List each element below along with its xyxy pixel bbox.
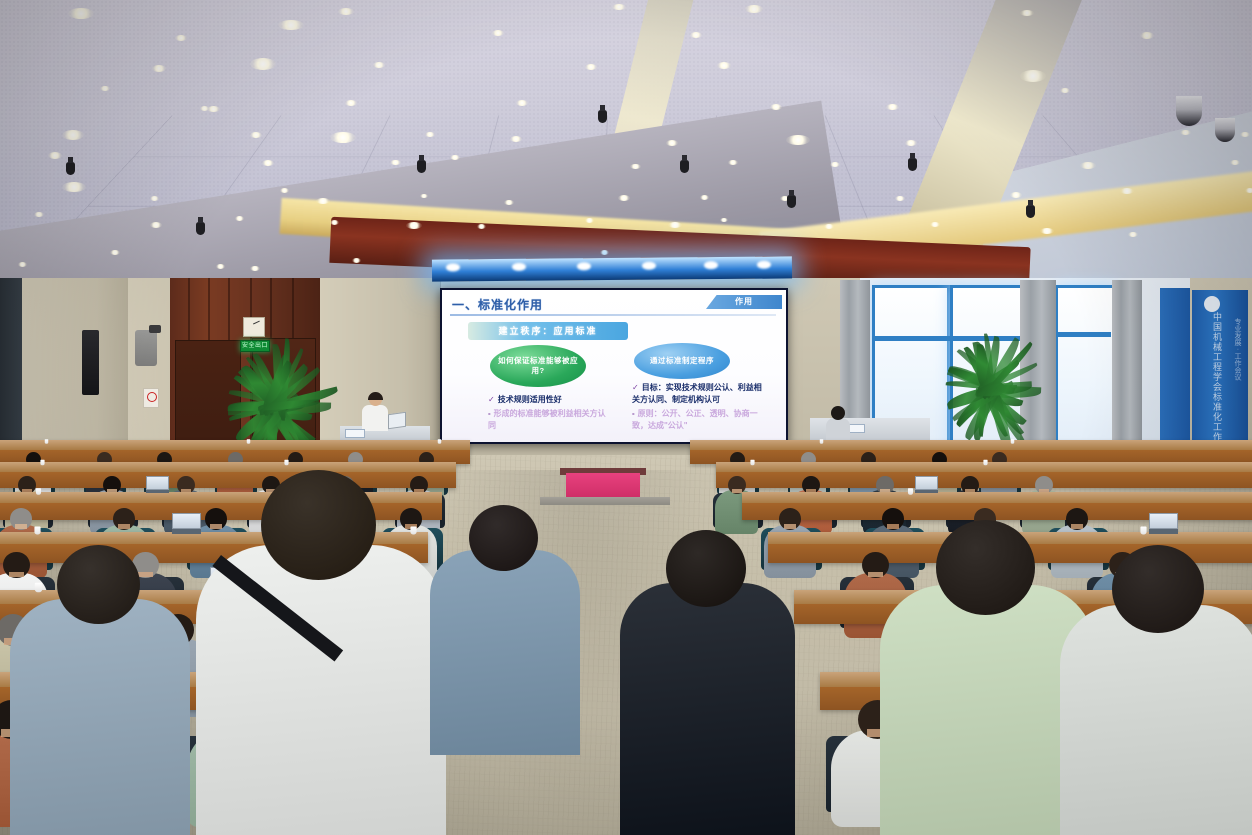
attendee-torso xyxy=(430,550,580,755)
ceiling-downlight xyxy=(1040,228,1054,234)
ceiling-downlight xyxy=(1010,192,1022,198)
ceiling-downlight xyxy=(1240,132,1250,137)
paper-cup xyxy=(1011,439,1015,444)
ceiling-downlight xyxy=(1120,188,1134,194)
ceiling-downlight xyxy=(585,218,594,223)
attendee-head xyxy=(469,505,538,571)
ceiling-downlight xyxy=(18,262,27,267)
paper-cup xyxy=(750,460,754,465)
stage-step xyxy=(540,497,670,505)
banner-vertical-subtext: 专业发展 · 工作会议 xyxy=(1230,318,1242,380)
ceiling-camera-icon xyxy=(196,222,205,235)
attendee-torso xyxy=(1060,605,1252,835)
ceiling-downlight xyxy=(1020,70,1046,82)
ceiling-downlight xyxy=(905,140,917,146)
paper-cup xyxy=(45,439,49,444)
ceiling-downlight xyxy=(338,8,354,15)
led-highlight xyxy=(704,261,718,269)
led-highlight xyxy=(577,262,591,270)
ceiling-downlight xyxy=(406,222,422,229)
ceiling-downlight xyxy=(150,222,162,228)
attendee-foreground-white-shirt xyxy=(196,470,446,835)
led-light-strip xyxy=(432,256,792,281)
ceiling-downlight xyxy=(373,62,385,68)
ceiling-downlight xyxy=(630,164,641,169)
ceiling-downlight xyxy=(330,132,356,143)
slide-section-tab: 作用 xyxy=(706,295,782,309)
attendee-foreground-black-shirt xyxy=(620,530,795,835)
attendee-torso xyxy=(10,599,190,835)
slide-bullets-left: ✓技术规则适用性好 -形成的标准能够被利益相关方认同 xyxy=(488,394,608,434)
table-top xyxy=(690,440,1252,450)
ceiling-downlight xyxy=(250,266,260,271)
slide-bullet-text: 形成的标准能够被利益相关方认同 xyxy=(488,409,606,430)
ceiling-downlight xyxy=(420,194,428,198)
ceiling-downlight xyxy=(352,258,361,263)
slide-green-ellipse-label: 如何保证标准能够被应用? xyxy=(490,356,586,376)
slide-title-rule xyxy=(450,314,776,316)
slide-bullet: -形成的标准能够被利益相关方认同 xyxy=(488,408,608,432)
paper-cup xyxy=(284,460,288,465)
ceiling-downlight xyxy=(216,264,225,269)
ceiling-downlight xyxy=(390,160,401,165)
paper-cup xyxy=(40,460,44,465)
ceiling-downlight xyxy=(690,32,702,38)
laptop[interactable] xyxy=(915,476,937,493)
attendee-neck xyxy=(732,489,742,493)
ceiling xyxy=(0,0,1252,300)
ceiling-downlight xyxy=(585,64,597,70)
slide-banner-label: 建立秩序：应用标准 xyxy=(468,322,628,340)
ceiling-downlight xyxy=(600,250,609,255)
ceiling-downlight xyxy=(152,65,166,72)
attendee-head xyxy=(57,545,140,624)
attendee-head xyxy=(261,470,376,580)
ceiling-downlight xyxy=(612,4,626,10)
ceiling-downlight xyxy=(720,218,728,222)
ceiling-downlight xyxy=(618,195,630,201)
ceiling-downlight xyxy=(425,132,435,137)
ceiling-camera-icon xyxy=(787,195,796,208)
ceiling-downlight xyxy=(770,104,782,110)
ceiling-downlight xyxy=(1245,188,1252,193)
ceiling-downlight xyxy=(62,182,86,192)
ceiling-downlight xyxy=(1020,10,1034,16)
window-mullion xyxy=(1055,332,1111,337)
slide-blue-ellipse: 通过标准制定程序 xyxy=(634,343,730,379)
ceiling-camera-icon xyxy=(1026,205,1035,218)
ceiling-downlight xyxy=(886,104,899,110)
ceiling-downlight xyxy=(830,162,840,167)
ceiling-camera-icon xyxy=(417,160,426,173)
led-highlight xyxy=(512,263,526,271)
ceiling-downlight xyxy=(700,195,709,200)
ceiling-downlight xyxy=(345,100,357,106)
ceiling-downlight xyxy=(262,160,274,166)
ceiling-downlight xyxy=(278,20,304,30)
security-camera-icon xyxy=(1215,118,1235,142)
paper-cup xyxy=(35,526,41,534)
ceiling-downlight xyxy=(250,132,262,138)
ceiling-downlight xyxy=(516,100,528,106)
attendee-foreground-blue xyxy=(10,545,190,835)
led-highlight xyxy=(446,263,460,271)
ceiling-downlight xyxy=(34,212,44,217)
ceiling-downlight xyxy=(150,196,159,201)
laptop-base xyxy=(1149,529,1178,534)
ceiling-downlight xyxy=(824,224,834,229)
slide-bullet: ✓目标：实现技术规则公认、利益相关方认同、制定机构认可 xyxy=(632,382,762,406)
attendee-neck xyxy=(15,524,27,529)
wall-projector-screen-roll xyxy=(135,330,157,366)
attendee-foreground-grey-blue xyxy=(430,505,580,755)
table-top xyxy=(742,492,1252,503)
ceiling-downlight xyxy=(1180,130,1191,135)
slide-banner: 建立秩序：应用标准 xyxy=(468,322,628,340)
ceiling-downlight xyxy=(728,160,738,165)
projection-screen: 一、标准化作用 作用 建立秩序：应用标准 如何保证标准能够被应用? 通过标准制定… xyxy=(440,288,788,444)
led-highlight xyxy=(757,261,771,269)
conference-room-photo: 安全出口 中国机械工程学会标准化工作会议 专业发展 · 工作会议 一、标准化作用… xyxy=(0,0,1252,835)
ceiling-downlight xyxy=(510,136,522,142)
laptop-screen xyxy=(915,476,939,490)
ceiling-downlight xyxy=(492,30,504,36)
ceiling-downlight xyxy=(1128,232,1138,237)
presenter-laptop xyxy=(388,412,406,430)
security-camera-icon xyxy=(1176,96,1202,126)
ceiling-downlight xyxy=(930,222,940,227)
laptop-base xyxy=(915,490,939,494)
laptop-base xyxy=(146,490,170,494)
ceiling-downlight xyxy=(895,196,905,201)
ceiling-downlight xyxy=(280,188,289,193)
paper-cup xyxy=(247,439,251,444)
banner-logo-icon xyxy=(1204,296,1220,312)
attendee-torso xyxy=(196,545,446,835)
attendee-neck xyxy=(118,524,130,529)
ceiling-downlight xyxy=(100,86,110,91)
attendee-torso xyxy=(620,583,795,835)
name-card xyxy=(345,429,365,438)
ceiling-camera-icon xyxy=(598,110,607,123)
ceiling-camera-icon xyxy=(66,162,75,175)
ceiling-camera-icon xyxy=(680,160,689,173)
led-highlight xyxy=(642,262,656,270)
table-top xyxy=(0,440,470,450)
check-icon: ✓ xyxy=(488,395,495,404)
ceiling-downlight xyxy=(330,220,339,225)
ceiling-downlight xyxy=(1140,32,1154,39)
ceiling-downlight xyxy=(1230,160,1240,165)
slide-blue-ellipse-label: 通过标准制定程序 xyxy=(644,356,720,366)
attendee-head xyxy=(1112,545,1204,633)
ceiling-downlight xyxy=(1060,88,1070,93)
ceiling-downlight xyxy=(68,8,94,19)
ceiling-downlight xyxy=(316,198,330,204)
paper-cup xyxy=(438,439,442,444)
attendee-foreground-floral xyxy=(1060,545,1252,835)
ceiling-downlight xyxy=(668,222,682,228)
ceiling-downlight xyxy=(1080,162,1096,169)
wall-column-dark xyxy=(0,278,24,463)
ceiling-downlight xyxy=(48,152,62,159)
wall-speaker xyxy=(82,330,99,395)
ceiling-downlight xyxy=(477,224,486,229)
wall-banner: 中国机械工程学会标准化工作会议 专业发展 · 工作会议 xyxy=(1192,290,1248,465)
slide-bullet-text: 目标：实现技术规则公认、利益相关方认同、制定机构认可 xyxy=(632,383,762,404)
slide-bullets-right: ✓目标：实现技术规则公认、利益相关方认同、制定机构认可 -原则：公开、公正、透明… xyxy=(632,382,762,434)
no-smoking-sign-icon xyxy=(143,388,159,408)
dash-icon: - xyxy=(488,409,491,418)
ceiling-downlight xyxy=(62,130,84,140)
attendee-head xyxy=(666,530,747,607)
laptop-screen xyxy=(146,476,170,490)
ceiling-downlight xyxy=(745,5,763,13)
ceiling-downlight xyxy=(235,216,244,221)
attendee xyxy=(826,406,850,440)
laptop-screen xyxy=(1149,513,1177,530)
slide-bullet: -原则：公开、公正、透明、协商一致，达成"公认" xyxy=(632,408,762,432)
ceiling-downlight xyxy=(250,58,276,70)
paper-cup xyxy=(983,460,987,465)
slide-bullet-text: 技术规则适用性好 xyxy=(498,395,562,404)
stage-front-panel xyxy=(566,473,640,497)
paper-cup xyxy=(36,488,41,494)
ceiling-downlight xyxy=(504,200,514,205)
laptop[interactable] xyxy=(172,513,198,534)
ceiling-downlight xyxy=(207,106,220,112)
presenter xyxy=(362,393,388,431)
slide-green-ellipse: 如何保证标准能够被应用? xyxy=(490,345,586,387)
laptop[interactable] xyxy=(1149,513,1175,534)
ceiling-downlight xyxy=(200,106,209,111)
dash-icon: - xyxy=(632,409,635,418)
paper-cup xyxy=(1141,526,1147,534)
ceiling-downlight xyxy=(717,62,731,69)
slide-section-tab-label: 作用 xyxy=(706,295,782,309)
slide-bullet: ✓技术规则适用性好 xyxy=(488,394,608,406)
ceiling-downlight xyxy=(450,155,460,160)
presentation-slide: 一、标准化作用 作用 建立秩序：应用标准 如何保证标准能够被应用? 通过标准制定… xyxy=(442,290,786,442)
ceiling-downlight xyxy=(666,140,678,146)
slide-bullet-text: 原则：公开、公正、透明、协商一致，达成"公认" xyxy=(632,409,758,430)
ceiling-downlight xyxy=(786,135,810,145)
attendee-head xyxy=(936,520,1035,615)
slide-title: 一、标准化作用 xyxy=(452,296,543,313)
paper-cup xyxy=(820,439,824,444)
ceiling-downlight xyxy=(175,35,187,41)
paper-cup xyxy=(908,488,913,494)
wall-clock-icon xyxy=(243,317,265,337)
check-icon: ✓ xyxy=(632,383,639,392)
conference-table xyxy=(690,440,1252,464)
laptop[interactable] xyxy=(146,476,168,493)
attendee-neck xyxy=(784,524,796,529)
ceiling-downlight xyxy=(110,250,120,255)
ceiling-camera-icon xyxy=(908,158,917,171)
